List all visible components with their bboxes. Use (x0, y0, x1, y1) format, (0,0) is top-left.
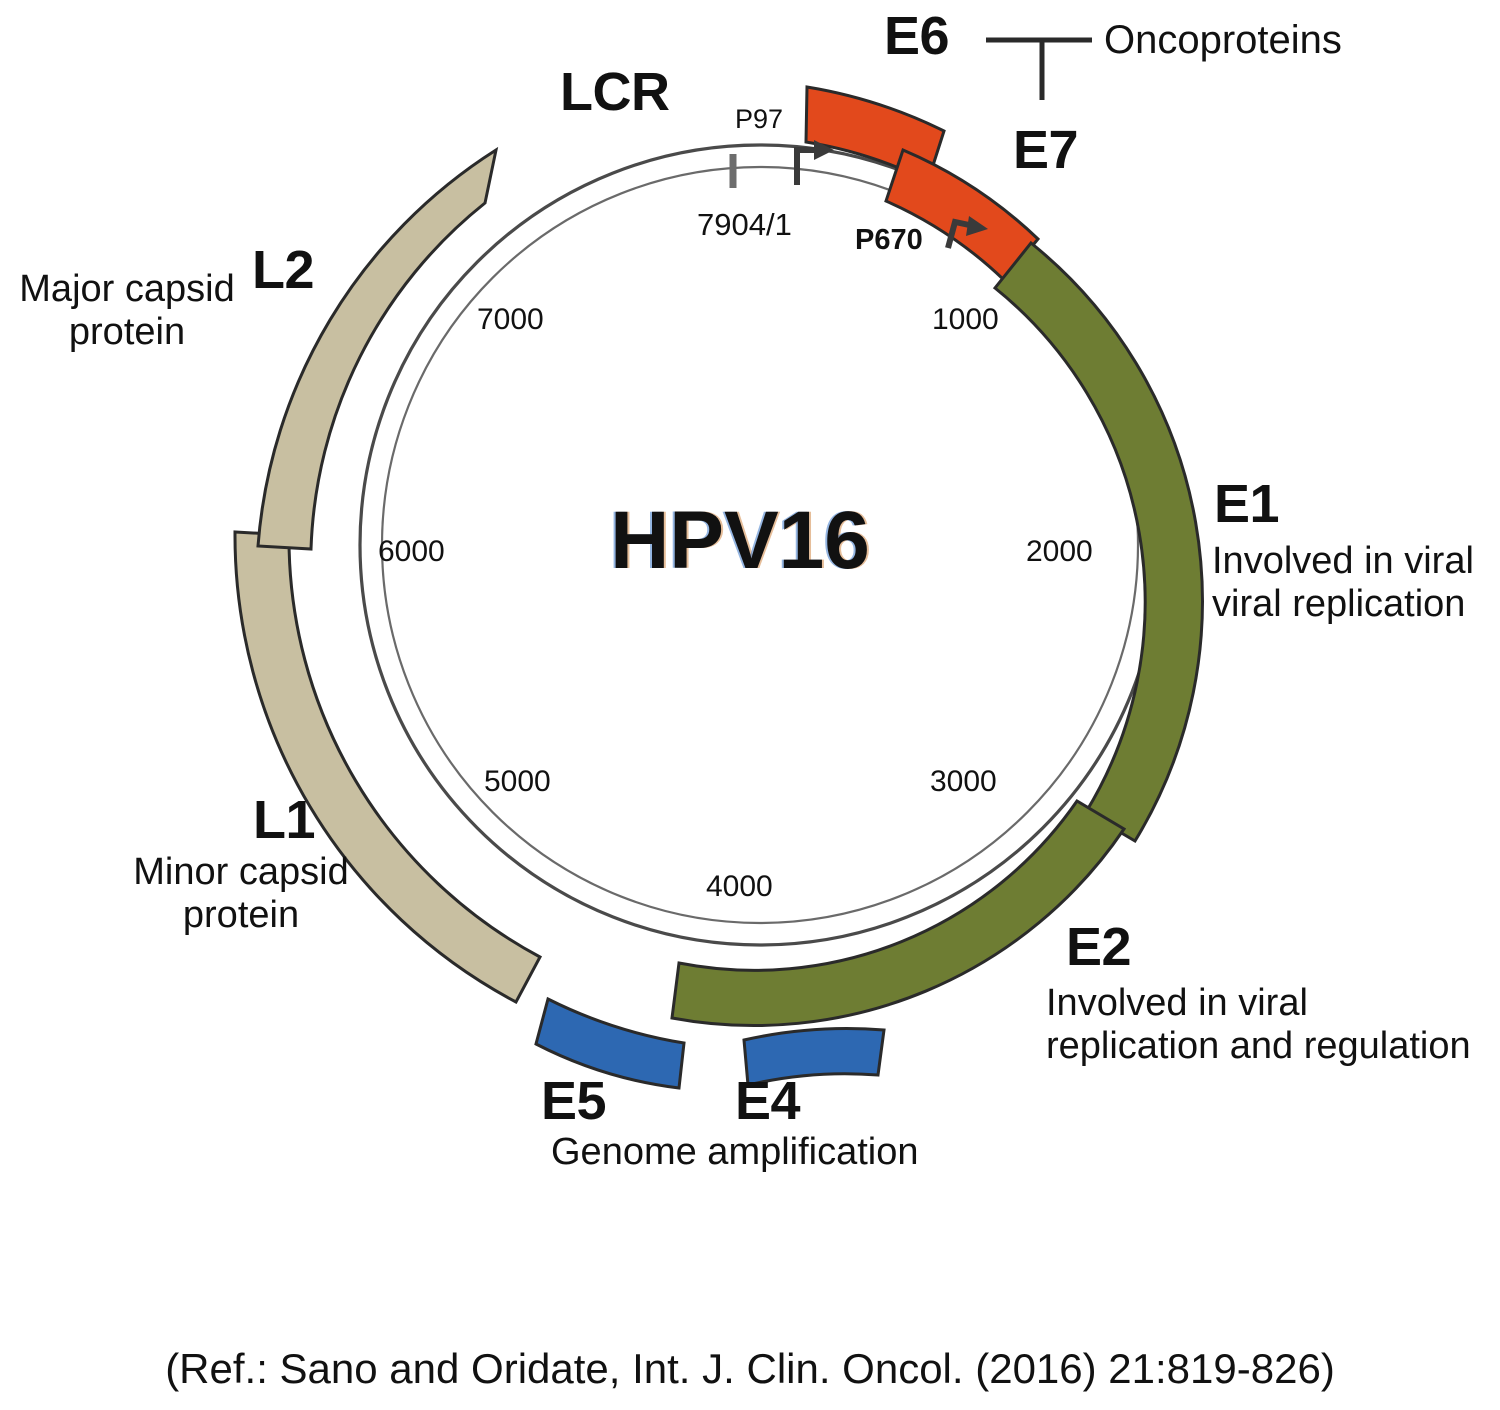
region-label-e7: E7 (1013, 120, 1078, 180)
region-label-e1: E1 (1214, 474, 1279, 534)
tick-label-6000: 6000 (378, 535, 445, 569)
region-label-e5: E5 (541, 1071, 606, 1131)
region-label-e4: E4 (735, 1071, 800, 1131)
tick-label-5000: 5000 (484, 765, 551, 799)
region-label-e6: E6 (884, 6, 949, 66)
center-genome-title: HPV16 (560, 495, 920, 587)
annotation-genome-amplification: Genome amplification (551, 1131, 919, 1174)
tick-label-3000: 3000 (930, 765, 997, 799)
promoter-label-p670: P670 (855, 224, 923, 256)
region-label-lcr: LCR (560, 62, 669, 122)
reference-caption: (Ref.: Sano and Oridate, Int. J. Clin. O… (0, 1345, 1500, 1393)
tick-label-4000: 4000 (706, 870, 773, 904)
tick-label-2000: 2000 (1026, 535, 1093, 569)
region-desc-e1: Involved in viral viral replication (1212, 540, 1500, 625)
gene-arc-l2 (258, 150, 496, 549)
hpv16-genome-figure: HPV16 LCR E6 E7 Oncoproteins E1 Involved… (0, 0, 1500, 1410)
tick-label-1000: 1000 (932, 303, 999, 337)
oncoproteins-bracket (986, 40, 1092, 100)
tick-label-origin: 7904/1 (697, 208, 792, 243)
promoter-label-p97: P97 (735, 104, 783, 134)
tick-label-7000: 7000 (477, 303, 544, 337)
region-label-l2: L2 (252, 240, 314, 300)
region-desc-l1: Minor capsid protein (122, 851, 360, 936)
region-label-l1: L1 (253, 790, 315, 850)
annotation-oncoproteins: Oncoproteins (1104, 18, 1342, 63)
region-label-e2: E2 (1066, 917, 1131, 977)
region-desc-e2: Involved in viral replication and regula… (1046, 982, 1500, 1067)
region-desc-l2: Major capsid protein (8, 268, 246, 353)
